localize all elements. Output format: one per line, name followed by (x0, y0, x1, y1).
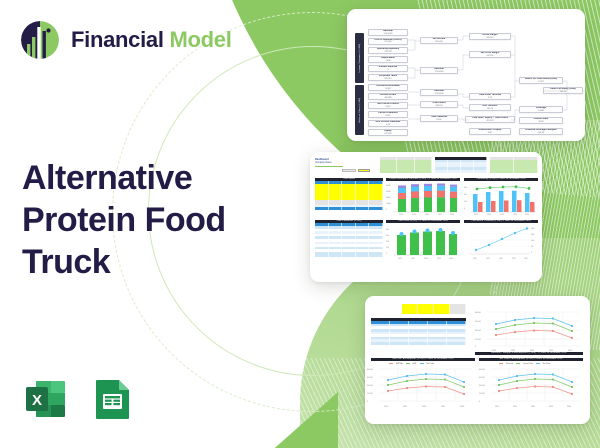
assumptions-table (380, 157, 432, 173)
line-plot-1: 60,00045,00030,00015,0000 20222023202420… (475, 308, 583, 354)
chart-title: EBITDA / Assumptions (£'000) 5 Years to … (371, 358, 475, 361)
chart-legend: EBITDA EBIT Net Profit (389, 363, 434, 365)
brand-name: Financial Model (71, 29, 232, 51)
page-title-line2: Protein Food (22, 200, 267, 242)
svg-text:20k: 20k (386, 247, 389, 249)
svg-text:140k: 140k (531, 234, 535, 236)
cash-flow-plot: 50k40k30k20k0 20222023202420252026 (386, 223, 460, 261)
svg-text:100k: 100k (531, 240, 535, 242)
page-title: Alternative Protein Food Truck (22, 158, 267, 283)
core-inputs-panel: Core Inputs (315, 178, 383, 210)
svg-text:30k: 30k (386, 241, 389, 243)
svg-text:0: 0 (386, 209, 387, 211)
svg-text:15,000: 15,000 (475, 339, 481, 341)
title-underline (315, 166, 343, 167)
revenue-margins-chart: 60,00045,00030,00015,0000 20222023202420… (475, 308, 583, 354)
chart-legend: Revenue Gross Profit Net Profit (499, 363, 550, 365)
cumulative-cashflow-chart: Cumulative Cashflow (£'000) 5 Years to D… (464, 220, 538, 262)
svg-text:2023: 2023 (486, 258, 490, 260)
chart-title: Net Profit / Assumptions (£'000) 5 Years… (479, 358, 583, 361)
svg-text:60k: 60k (531, 246, 534, 248)
forecast-sheet: 60,00045,00030,00015,0000 20222023202420… (365, 296, 590, 424)
cumulative-line-plot: 180k140k100k60k0 20222023202420252026 (464, 223, 538, 261)
svg-text:2024: 2024 (500, 214, 504, 216)
svg-text:2023: 2023 (403, 406, 407, 408)
svg-text:180k: 180k (531, 228, 535, 230)
stacked-bar-plot: 600004500030000150000 202220232024202520… (386, 181, 460, 217)
svg-text:2023: 2023 (411, 258, 415, 260)
ebitda-chart: EBITDA / Assumptions (£'000) 5 Years to … (367, 358, 475, 418)
svg-text:60000: 60000 (386, 185, 391, 187)
dashboard-title: Dashboard (315, 158, 329, 161)
svg-text:2022: 2022 (474, 214, 478, 216)
svg-text:2026: 2026 (450, 214, 454, 216)
svg-text:60,000: 60,000 (367, 369, 373, 371)
svg-text:2026: 2026 (449, 258, 453, 260)
core-financials-panel: Core Financials (£'000) (315, 220, 383, 257)
svg-text:2024: 2024 (499, 258, 503, 260)
svg-text:45,000: 45,000 (367, 377, 373, 379)
svg-text:45000: 45000 (386, 191, 391, 193)
project-revenues-chart: Project Revenues Forecast (£'000) - 5 Ye… (386, 178, 460, 218)
net-profit-chart: Net Profit / Assumptions (£'000) 5 Years… (479, 358, 587, 418)
google-sheets-icon[interactable] (88, 375, 136, 423)
brand-logo[interactable]: Financial Model (18, 18, 232, 62)
svg-text:0: 0 (475, 346, 476, 348)
chart-title: Cumulative Cashflow (£'000) 5 Years to D… (464, 220, 538, 223)
combo-plot: 60k40k20k0 20222023202420252026 (464, 181, 538, 217)
svg-text:60,000: 60,000 (475, 312, 481, 314)
line-plot-3: 60,00045,00030,00015,0000 20222023202420… (479, 365, 587, 415)
svg-text:30,000: 30,000 (475, 330, 481, 332)
svg-text:50k: 50k (386, 229, 389, 231)
svg-text:2023: 2023 (487, 214, 491, 216)
svg-text:2024: 2024 (422, 406, 426, 408)
brand-name-part2: Model (169, 27, 231, 52)
svg-text:2022: 2022 (495, 406, 499, 408)
svg-text:2023: 2023 (412, 214, 416, 216)
svg-text:30000: 30000 (386, 197, 391, 199)
financial-ratio-tree-preview[interactable]: Income Statement (£ 000) Balance Sheet (… (347, 9, 585, 141)
svg-text:2024: 2024 (425, 214, 429, 216)
svg-text:2025: 2025 (438, 214, 442, 216)
svg-text:X: X (32, 392, 42, 409)
svg-text:2022: 2022 (473, 258, 477, 260)
svg-text:2026: 2026 (567, 406, 571, 408)
financial-dashboard-preview[interactable]: Dashboard Company Name (310, 152, 542, 282)
svg-text:2024: 2024 (531, 406, 535, 408)
input-cell[interactable] (358, 169, 370, 172)
dropdown-control[interactable] (342, 169, 356, 172)
svg-text:2025: 2025 (549, 406, 553, 408)
dashboard-subtitle: Company Name (315, 162, 332, 164)
svg-text:45,000: 45,000 (475, 321, 481, 323)
svg-text:15,000: 15,000 (479, 393, 485, 395)
chart-title: Project Revenues Forecast (£'000) - 5 Ye… (386, 178, 460, 181)
svg-text:15000: 15000 (386, 203, 391, 205)
slide-canvas: Financial Model Alternative Protein Food… (0, 0, 600, 448)
svg-text:2026: 2026 (524, 258, 528, 260)
svg-text:2022: 2022 (399, 214, 403, 216)
tree-connectors (347, 9, 585, 141)
ratio-tree: Income Statement (£ 000) Balance Sheet (… (347, 9, 585, 141)
svg-text:0: 0 (367, 401, 368, 403)
profitability-chart: Profitability (£'000) 5 Years to Decembe… (464, 178, 538, 218)
chart-title: Revenue / Margins & Assumptions (£'000) … (475, 352, 583, 355)
green-triangle-bottom (268, 392, 338, 448)
svg-text:60,000: 60,000 (479, 369, 485, 371)
svg-text:60k: 60k (464, 187, 467, 189)
page-title-line3: Truck (22, 242, 267, 284)
svg-text:20k: 20k (464, 201, 467, 203)
project-summary-table (490, 157, 538, 173)
financials-table (371, 318, 466, 345)
svg-text:2025: 2025 (441, 406, 445, 408)
svg-text:2026: 2026 (460, 406, 464, 408)
svg-text:2026: 2026 (525, 214, 529, 216)
financial-model-circle-chart-logo (18, 18, 62, 62)
svg-text:0: 0 (531, 252, 532, 254)
svg-text:2025: 2025 (513, 214, 517, 216)
svg-text:30,000: 30,000 (367, 385, 373, 387)
svg-text:0: 0 (464, 208, 465, 210)
svg-text:45,000: 45,000 (479, 377, 485, 379)
svg-text:0: 0 (479, 401, 480, 403)
svg-text:2024: 2024 (424, 258, 428, 260)
brand-name-part1: Financial (71, 27, 164, 52)
dashboard-sheet: Dashboard Company Name (310, 152, 542, 282)
svg-text:40k: 40k (464, 194, 467, 196)
svg-text:30,000: 30,000 (479, 385, 485, 387)
page-title-line1: Alternative (22, 158, 267, 200)
line-plot-2: 60,00045,00030,00015,0000 20222023202420… (367, 365, 475, 415)
microsoft-excel-icon[interactable]: X (22, 375, 70, 423)
svg-text:2022: 2022 (398, 258, 402, 260)
assumptions-table (371, 304, 466, 314)
svg-text:0: 0 (386, 253, 387, 255)
svg-text:2023: 2023 (513, 406, 517, 408)
svg-text:40k: 40k (386, 235, 389, 237)
forecast-charts-preview[interactable]: 60,00045,00030,00015,0000 20222023202420… (365, 296, 590, 424)
loan-inputs-table (435, 157, 487, 173)
svg-text:15,000: 15,000 (367, 393, 373, 395)
file-format-icons: X (22, 375, 136, 423)
svg-text:2025: 2025 (437, 258, 441, 260)
svg-text:2025: 2025 (512, 258, 516, 260)
svg-text:2022: 2022 (384, 406, 388, 408)
cash-flow-chart: Cash Flow (£'000) - 5 Years to December … (386, 220, 460, 262)
